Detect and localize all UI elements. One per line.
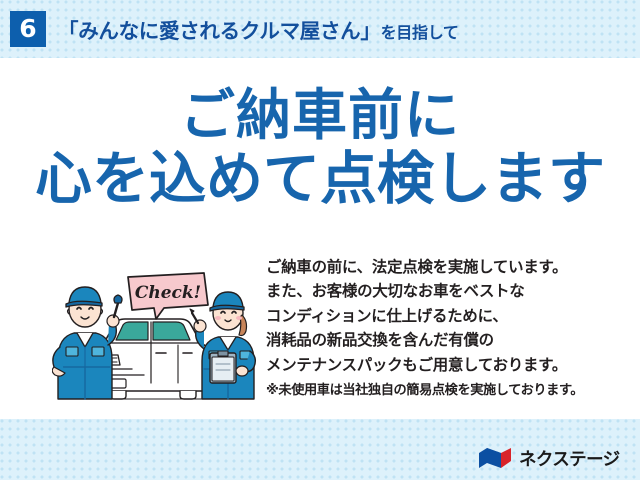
headline-line-1: ご納車前に [0,84,640,146]
header-title-main-text: 「みんなに愛されるクルマ屋さん」 [58,14,381,44]
mechanics-illustration: Check! [52,263,262,403]
content-panel: ご納車前に 心を込めて点検します [0,58,640,419]
body-line-5: メンテナンスパックもご用意しております。 [266,354,634,378]
step-number-badge: 6 [10,11,46,47]
body-note: ※未使用車は当社独自の簡易点検を実施しております。 [266,380,634,400]
header-title: 「みんなに愛されるクルマ屋さん」 を目指して [58,14,459,44]
speech-bubble-text: Check! [135,283,201,303]
male-mechanic [52,287,122,399]
headline: ご納車前に 心を込めて点検します [0,84,640,212]
header: 6 「みんなに愛されるクルマ屋さん」 を目指して [0,0,640,58]
brand-name-text: ネクステージ [519,446,620,471]
body-line-2: また、お客様の大切なお車をベストな [266,280,634,304]
nextage-n-mark-icon [478,447,512,469]
brand-logo: ネクステージ [478,445,620,471]
header-title-sub-text: を目指して [381,19,459,43]
headline-line-2: 心を込めて点検します [0,146,640,212]
body-line-1: ご納車の前に、法定点検を実施しています。 [266,256,634,280]
body-line-3: コンディションに仕上げるために、 [266,305,634,329]
body-copy: ご納車の前に、法定点検を実施しています。 また、お客様の大切なお車をベストな コ… [266,256,634,400]
promo-banner: 6 「みんなに愛されるクルマ屋さん」 を目指して ご納車前に 心を込めて点検しま… [0,0,640,480]
body-line-4: 消耗品の新品交換を含んだ有償の [266,329,634,353]
